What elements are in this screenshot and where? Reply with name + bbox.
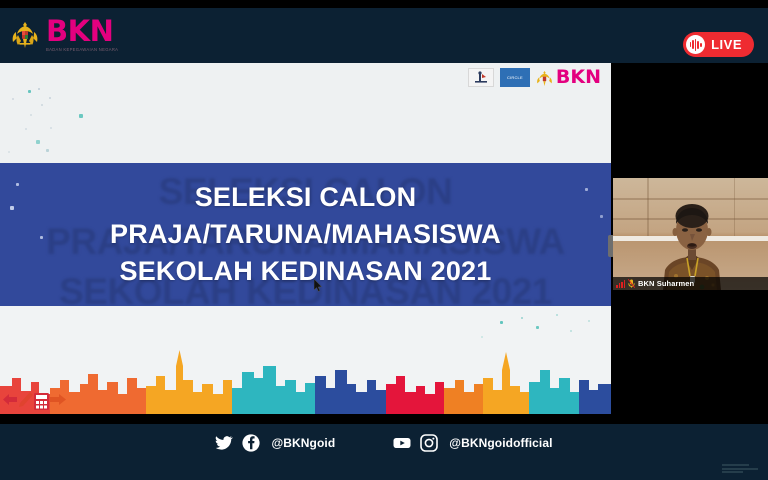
- decor-dot: [46, 149, 49, 152]
- decor-dot: [25, 128, 27, 130]
- institution-seal-logo: [468, 68, 494, 87]
- decor-dot: [500, 321, 503, 324]
- calculator-icon: [34, 393, 49, 410]
- handle-bkngoidofficial[interactable]: @BKNgoidofficial: [449, 436, 552, 450]
- brand-name: BKN: [46, 17, 118, 46]
- decor-dot: [79, 114, 83, 118]
- slide-title-band: SELEKSI CALON PRAJA/TARUNA/MAHASISWA SEK…: [0, 163, 611, 306]
- city-skyline-illustration: [0, 336, 611, 414]
- garuda-small-icon: [536, 69, 553, 87]
- slide-corner-icons: [3, 392, 66, 410]
- slide-logo-group: CIRCLE BKN: [468, 68, 601, 87]
- decor-dot: [8, 151, 10, 153]
- garuda-emblem-icon: [10, 19, 40, 51]
- handle-bkngoid[interactable]: @BKNgoid: [271, 436, 335, 450]
- top-black-strip: [0, 0, 768, 8]
- shared-slide[interactable]: CIRCLE BKN: [0, 63, 611, 414]
- social-group-bkngoid: @BKNgoid: [215, 434, 335, 452]
- microphone-muted-icon: [628, 279, 635, 288]
- social-footer: @BKNgoid @BKNgoidofficial: [0, 424, 768, 480]
- twitter-icon[interactable]: [215, 434, 233, 452]
- live-label: LIVE: [711, 37, 742, 52]
- title-line-2: PRAJA/TARUNA/MAHASISWA: [0, 216, 611, 253]
- signal-bars-icon: [616, 280, 625, 288]
- participant-panel[interactable]: BKN Suharmen: [611, 63, 768, 414]
- slide-lower-area: [0, 306, 611, 414]
- decor-dot: [536, 326, 539, 329]
- slide-upper-area: CIRCLE BKN: [0, 63, 611, 163]
- broadcast-header: BKN BADAN KEPEGAWAIAN NEGARA LIVE: [0, 8, 768, 63]
- slide-title: SELEKSI CALON PRAJA/TARUNA/MAHASISWA SEK…: [0, 179, 611, 290]
- live-waveform-icon: [686, 35, 705, 54]
- watermark-logo: [722, 464, 760, 475]
- arrow-left-icon: [3, 394, 18, 410]
- title-line-3: SEKOLAH KEDINASAN 2021: [0, 253, 611, 290]
- brand-subtitle: BADAN KEPEGAWAIAN NEGARA: [46, 48, 118, 52]
- blue-institution-logo: CIRCLE: [500, 68, 530, 87]
- bkn-slide-logo-text: BKN: [556, 68, 601, 87]
- decor-dot: [28, 90, 31, 93]
- live-badge: LIVE: [683, 32, 754, 57]
- arrow-right-icon: [50, 394, 66, 410]
- decor-dot: [556, 314, 558, 316]
- decor-dot: [50, 127, 52, 129]
- social-links: @BKNgoid @BKNgoidofficial: [0, 432, 768, 454]
- facebook-icon[interactable]: [242, 434, 260, 452]
- mouse-pointer-icon: [314, 279, 323, 292]
- bkn-slide-logo: BKN: [536, 68, 601, 87]
- decor-dot: [41, 104, 43, 106]
- participant-name-bar: BKN Suharmen: [613, 277, 768, 290]
- footer-gap: [0, 414, 768, 424]
- brand-text: BKN BADAN KEPEGAWAIAN NEGARA: [46, 17, 118, 52]
- video-conference-screen: BKN BADAN KEPEGAWAIAN NEGARA LIVE: [0, 0, 768, 480]
- decor-dot: [38, 88, 40, 90]
- social-group-bkngoidofficial: @BKNgoidofficial: [393, 434, 552, 452]
- decor-dot: [36, 140, 40, 144]
- title-line-1: SELEKSI CALON: [0, 179, 611, 216]
- decor-dot: [49, 97, 51, 99]
- youtube-icon[interactable]: [393, 434, 411, 452]
- participant-video-tile[interactable]: BKN Suharmen: [613, 178, 768, 290]
- decor-dot: [588, 320, 590, 322]
- participant-name: BKN Suharmen: [638, 279, 694, 288]
- participant-figure: [661, 192, 723, 290]
- decor-dot: [12, 98, 14, 100]
- instagram-icon[interactable]: [420, 434, 438, 452]
- wall-seam: [734, 178, 736, 236]
- decor-dot: [30, 114, 32, 116]
- pencil-icon: [19, 392, 33, 410]
- decor-dot: [570, 330, 572, 332]
- bkn-brand: BKN BADAN KEPEGAWAIAN NEGARA: [10, 17, 118, 52]
- wall-seam: [647, 178, 649, 236]
- decor-dot: [521, 317, 523, 319]
- blue-logo-label: CIRCLE: [507, 75, 523, 80]
